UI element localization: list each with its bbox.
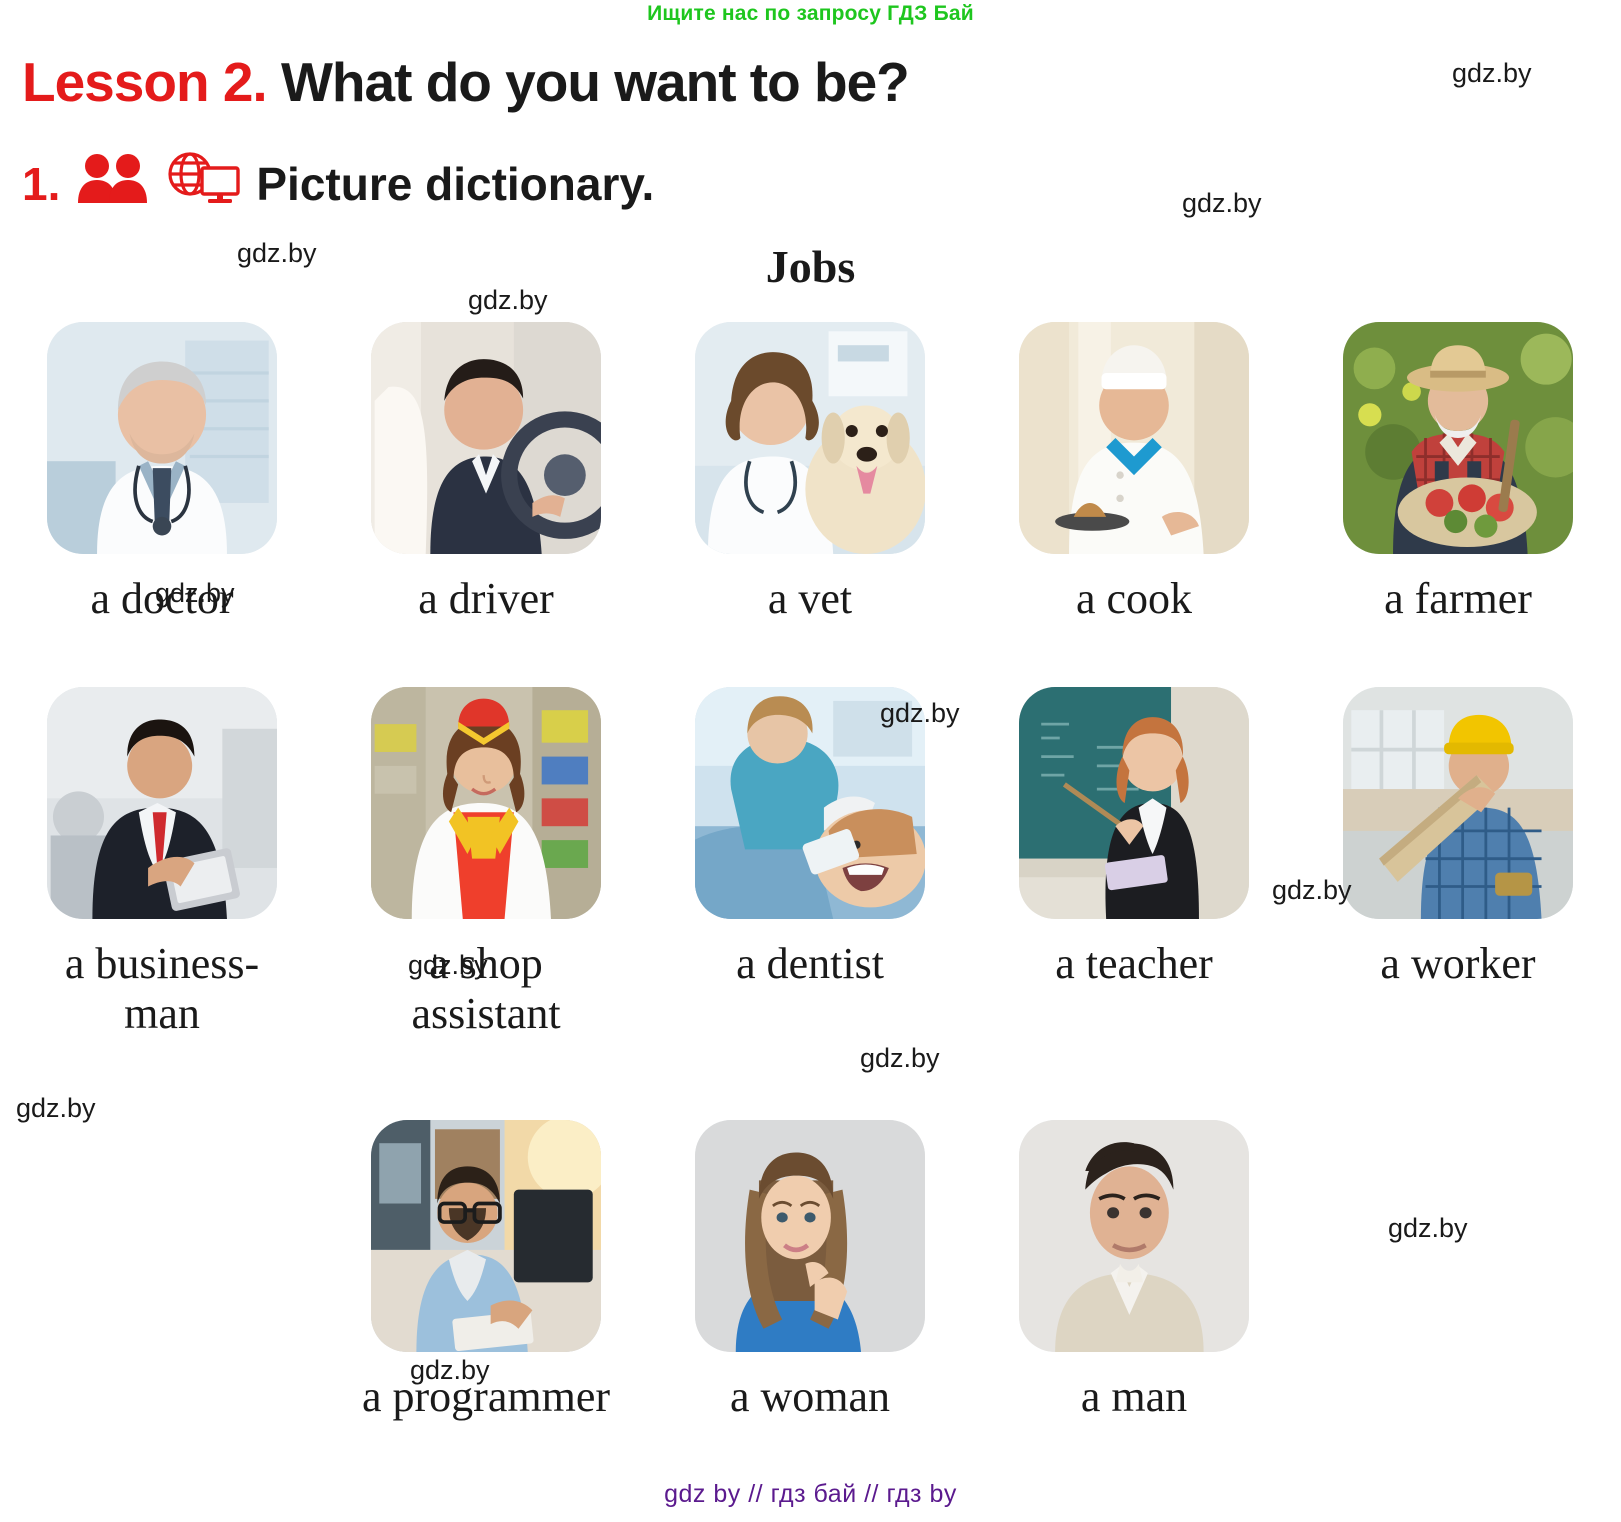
job-label: a vet (768, 574, 852, 624)
watermark: gdz.by (16, 1093, 96, 1124)
globe-monitor-icon (162, 152, 242, 215)
farmer-photo (1343, 322, 1573, 554)
businessman-photo (47, 687, 277, 919)
watermark: gdz.by (408, 950, 488, 981)
watermark: gdz.by (155, 578, 235, 609)
job-card-driver[interactable]: a driver (324, 322, 648, 687)
jobs-row-2: a business- man (0, 687, 1621, 1107)
job-card-doctor[interactable]: a doctor (0, 322, 324, 687)
job-label: a woman (730, 1372, 890, 1422)
jobs-row-1: a doctor a driver (0, 322, 1621, 687)
people-pair-icon (76, 153, 150, 214)
lesson-number: Lesson 2. (22, 51, 267, 113)
man-photo (1019, 1120, 1249, 1352)
job-label: a teacher (1055, 939, 1213, 989)
worker-photo (1343, 687, 1573, 919)
watermark: gdz.by (1272, 875, 1352, 906)
watermark: gdz.by (237, 238, 317, 269)
watermark: gdz.by (468, 285, 548, 316)
woman-photo (695, 1120, 925, 1352)
job-label: a business- man (65, 939, 259, 1039)
task-number: 1. (22, 157, 60, 211)
job-label: a dentist (736, 939, 884, 989)
job-card-businessman[interactable]: a business- man (0, 687, 324, 1107)
job-label: a man (1081, 1372, 1187, 1422)
watermark: gdz.by (880, 698, 960, 729)
teacher-photo (1019, 687, 1249, 919)
job-card-man[interactable]: a man (972, 1120, 1296, 1422)
job-label: a farmer (1384, 574, 1532, 624)
driver-photo (371, 322, 601, 554)
watermark: gdz.by (1388, 1213, 1468, 1244)
watermark: gdz.by (1182, 188, 1262, 219)
watermark: gdz.by (860, 1043, 940, 1074)
job-card-woman[interactable]: a woman (648, 1120, 972, 1422)
watermark: gdz.by (410, 1355, 490, 1386)
jobs-row-3: a programmer a woman (0, 1120, 1621, 1422)
job-label: a cook (1076, 574, 1192, 624)
job-card-vet[interactable]: a vet (648, 322, 972, 687)
programmer-photo (371, 1120, 601, 1352)
job-card-teacher[interactable]: a teacher (972, 687, 1296, 1107)
vet-photo (695, 322, 925, 554)
job-card-cook[interactable]: a cook (972, 322, 1296, 687)
page-title: Lesson 2. What do you want to be? (22, 50, 909, 114)
shop-assistant-photo (371, 687, 601, 919)
jobs-grid: a doctor a driver (0, 322, 1621, 1107)
promo-banner: Ищите нас по запросу ГДЗ Бай (0, 2, 1621, 26)
job-label: a driver (418, 574, 554, 624)
task-1-header: 1. Picture dictionary. (22, 152, 654, 215)
cook-photo (1019, 322, 1249, 554)
footer-watermark: gdz by // гдз бай // гдз by (0, 1480, 1621, 1509)
row-spacer (0, 1120, 324, 1422)
lesson-title: What do you want to be? (281, 51, 909, 113)
job-card-farmer[interactable]: a farmer (1296, 322, 1620, 687)
job-label: a worker (1380, 939, 1535, 989)
task-label: Picture dictionary. (256, 157, 654, 211)
doctor-photo (47, 322, 277, 554)
job-card-shop-assistant[interactable]: a shop assistant (324, 687, 648, 1107)
watermark: gdz.by (1452, 58, 1532, 89)
